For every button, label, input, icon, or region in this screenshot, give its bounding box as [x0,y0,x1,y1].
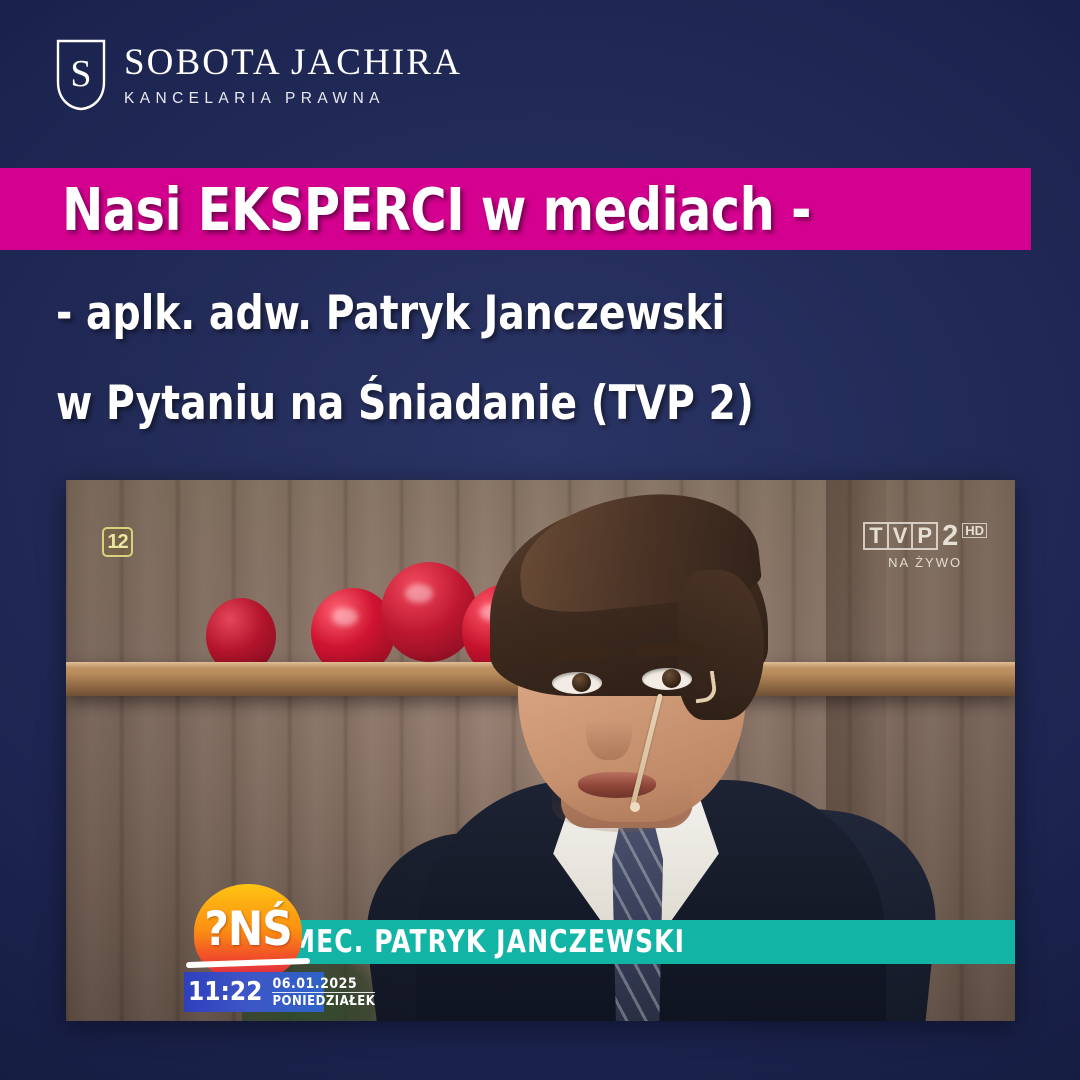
date-column: 06.01.2025 PONIEDZIAŁEK [272,977,375,1008]
show-logo-text: ?NŚ [184,902,312,957]
time-date-bar: 11:22 06.01.2025 PONIEDZIAŁEK [184,972,324,1012]
subtitle-line-2: w Pytaniu na Śniadanie (TVP 2) [56,376,754,431]
channel-number: 2 [942,522,958,550]
clock-text: 11:22 [188,977,262,1007]
age-rating-badge: 12 [102,527,133,557]
pupil [662,669,681,688]
svg-text:S: S [70,53,91,95]
weekday-text: PONIEDZIAŁEK [272,995,375,1008]
tvp-letter-t: T [865,524,888,548]
date-text: 06.01.2025 [272,977,375,993]
headset-mic-tip-icon [630,802,640,812]
poster-canvas: S SOBOTA JACHIRA KANCELARIA PRAWNA Nasi … [0,0,1080,1080]
brand-wordmark: SOBOTA JACHIRA KANCELARIA PRAWNA [124,44,462,106]
hd-badge: HD [962,523,987,538]
video-still[interactable]: 12 T V P 2 HD NA ŻYWO MEC. PATRYK JANCZE… [66,480,1015,1021]
show-logo-block: ?NŚ 11:22 06.01.2025 PONIEDZIAŁEK [184,884,312,1012]
headline-banner: Nasi EKSPERCI w mediach - [0,168,1031,250]
subtitle-line-1: - aplk. adw. Patryk Janczewski [56,286,725,341]
guest-name-text: MEC. PATRYK JANCZEWSKI [290,924,685,960]
shield-sj-icon: S [55,38,107,112]
tvp-letters: T V P [863,522,938,550]
tvp-letter-v: V [889,524,914,548]
nose [586,694,632,760]
firm-name: SOBOTA JACHIRA [124,44,462,82]
lower-third-bar: MEC. PATRYK JANCZEWSKI [246,920,1015,964]
channel-logo: T V P 2 HD NA ŻYWO [863,522,987,570]
live-label: NA ŻYWO [863,555,987,570]
pupil [572,673,591,692]
firm-subtitle: KANCELARIA PRAWNA [124,91,462,107]
tvp-letter-p: P [913,524,936,548]
chin-shadow [552,780,692,832]
brand-logo: S SOBOTA JACHIRA KANCELARIA PRAWNA [55,38,462,112]
channel-logo-row: T V P 2 HD [863,522,987,550]
headline-text: Nasi EKSPERCI w mediach - [62,175,811,244]
